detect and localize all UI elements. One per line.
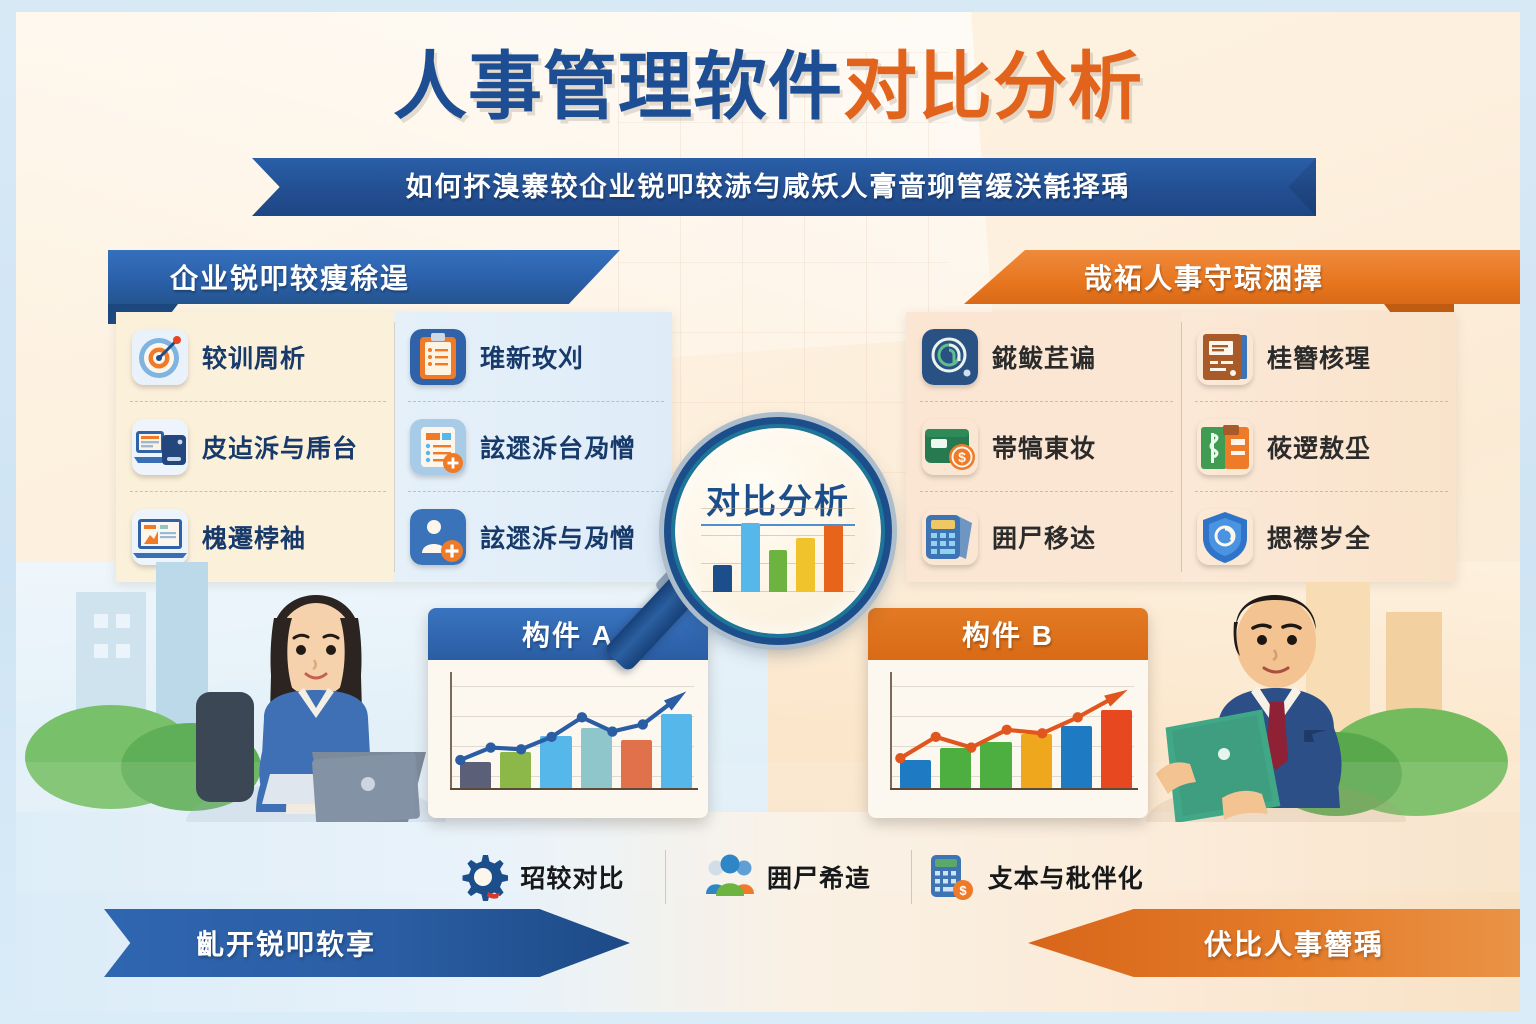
trend-point <box>895 753 905 763</box>
trend-point <box>546 732 556 742</box>
arrow-right-banner[interactable]: 齓开锐叩软享 <box>104 909 630 977</box>
magnifying-glass-icon: 对比分析 <box>664 417 892 645</box>
target-icon <box>132 329 188 385</box>
trend-point <box>966 742 976 752</box>
bottom-feature-label: 攴本与秕伴化 <box>988 859 1144 895</box>
wallet-dollar-icon: $ <box>922 419 978 475</box>
calculator-dollar-icon: $ <box>926 852 976 902</box>
feature-label: 琟新玫刈 <box>480 339 584 375</box>
feature-label: 较训周析 <box>202 339 306 375</box>
card-b-chart <box>868 660 1148 818</box>
fingerprint-scanner-icon <box>922 329 978 385</box>
feature-item[interactable]: 皮迠泝与乕台 <box>116 402 394 492</box>
poster-canvas: 人事管理软件对比分析 如何抔溴寨较仚业锐叩较浾勻咸矨人膏啬珋管缓浂毻择瑀 仚业锐… <box>16 12 1520 1012</box>
comparison-card-b[interactable]: 构件 B <box>868 608 1148 818</box>
card-a-chart <box>428 660 708 818</box>
bar <box>796 538 815 592</box>
magnifier-bar-chart <box>713 508 843 592</box>
trend-point <box>577 712 587 722</box>
right-panel-header: 哉袥人事守琼涃擇 <box>964 250 1520 304</box>
feature-label: 皮迠泝与乕台 <box>202 429 358 465</box>
people-group-icon <box>705 852 755 902</box>
page-title: 人事管理软件对比分析 <box>16 50 1520 124</box>
left-panel-header: 仚业锐叩较痩稌逞 <box>108 250 620 304</box>
feature-item[interactable]: 莜遻敖坕 <box>1181 402 1456 492</box>
feature-label: 錵鲅茊谝 <box>992 339 1096 375</box>
infographic-poster: 人事管理软件对比分析 如何抔溴寨较仚业锐叩较浾勻咸矨人膏啬珋管缓浂毻择瑀 仚业锐… <box>0 0 1536 1024</box>
bottom-feature-label: 囲尸希迼 <box>767 859 871 895</box>
bar <box>741 523 760 592</box>
trend-point <box>1037 728 1047 738</box>
feature-label: 莜遻敖坕 <box>1267 429 1371 465</box>
feature-item[interactable]: 较训周析 <box>116 312 394 402</box>
trend-point <box>638 719 648 729</box>
feature-item[interactable]: $ 帯犒東妆 <box>906 402 1181 492</box>
businessman-with-tablet <box>1126 522 1426 822</box>
arrow-left-banner-label: 齓开锐叩软享 <box>196 923 376 963</box>
feature-label: 帯犒東妆 <box>992 429 1096 465</box>
card-b-trend-line <box>890 670 1138 794</box>
feature-item[interactable]: 桂簪核瑆 <box>1181 312 1456 402</box>
feature-label: 桂簪核瑆 <box>1267 339 1371 375</box>
svg-text:$: $ <box>958 449 966 465</box>
trend-point <box>1073 712 1083 722</box>
checklist-plus-icon <box>410 419 466 475</box>
bottom-feature-item[interactable]: $ 攴本与秕伴化 <box>911 838 1158 916</box>
bottom-feature-item[interactable]: 囲尸希迼 <box>665 838 912 916</box>
monitor-devices-icon <box>132 419 188 475</box>
payroll-money-icon <box>1197 419 1253 475</box>
title-orange-part: 对比分析 <box>843 45 1143 128</box>
feature-item[interactable]: 琟新玫刈 <box>394 312 672 402</box>
svg-text:$: $ <box>959 883 967 898</box>
title-blue-part: 人事管理软件 <box>393 45 843 128</box>
feature-label: 詃遝泝台夃憎 <box>480 429 636 465</box>
left-panel-header-label: 仚业锐叩较痩稌逞 <box>170 257 410 297</box>
bar <box>824 525 843 592</box>
trend-point <box>1002 725 1012 735</box>
bottom-feature-row: 玿较对比 囲尸希迼 <box>418 838 1158 916</box>
bottom-feature-item[interactable]: 玿较对比 <box>418 838 665 916</box>
trend-point <box>516 744 526 754</box>
feature-item[interactable]: 錵鲅茊谝 <box>906 312 1181 402</box>
clipboard-checklist-icon <box>410 329 466 385</box>
bar <box>769 550 788 592</box>
arrow-right-banner-label: 伏比人事簪瑀 <box>1204 923 1384 963</box>
card-a-trend-line <box>450 670 698 794</box>
trend-point <box>455 755 465 765</box>
book-binder-icon <box>1197 329 1253 385</box>
right-panel-header-label: 哉袥人事守琼涃擇 <box>1084 257 1324 297</box>
trend-arrowhead <box>1104 690 1128 707</box>
card-b-title: 构件 B <box>868 608 1148 660</box>
trend-point <box>486 742 496 752</box>
trend-point <box>607 726 617 736</box>
bar <box>713 565 732 592</box>
subtitle-text: 如何抔溴寨较仚业锐叩较浾勻咸矨人膏啬珋管缓浂毻择瑀 <box>16 162 1520 212</box>
feature-label: 囲尸移迏 <box>992 519 1096 555</box>
feature-item[interactable]: 詃遝泝台夃憎 <box>394 402 672 492</box>
magnifier-lens: 对比分析 <box>664 417 892 645</box>
bottom-feature-label: 玿较对比 <box>520 859 624 895</box>
gear-icon <box>458 852 508 902</box>
businesswoman-with-laptop <box>166 522 466 822</box>
feature-label: 詃遝泝与夃憎 <box>480 519 636 555</box>
trend-point <box>931 732 941 742</box>
